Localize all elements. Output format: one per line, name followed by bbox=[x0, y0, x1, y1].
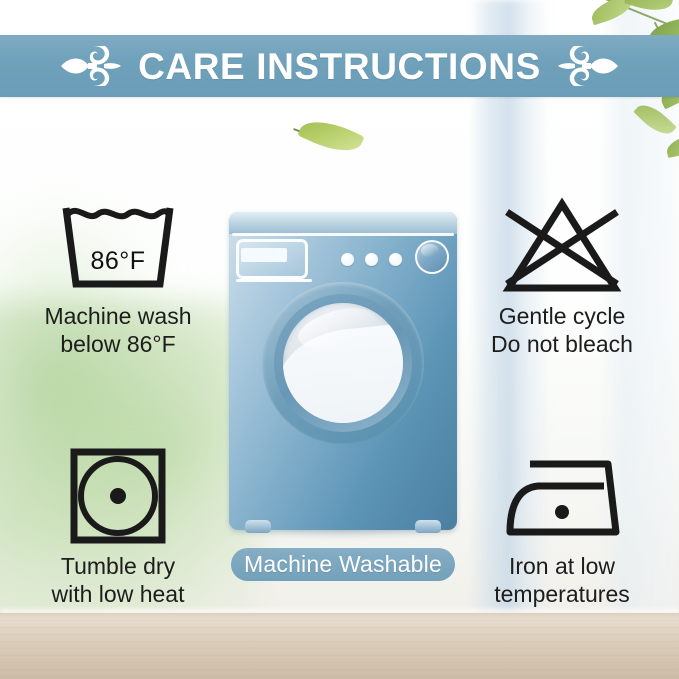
bleach-triangle-crossed-icon bbox=[497, 196, 627, 296]
wash-tub-icon-wrap: 86°F bbox=[8, 190, 228, 302]
washing-machine-illustration bbox=[229, 212, 457, 530]
tumble-dry-icon-wrap bbox=[8, 440, 228, 552]
bleach-icon-wrap bbox=[452, 190, 672, 302]
washer-button-3 bbox=[389, 253, 402, 266]
washer-display-screen bbox=[241, 248, 287, 262]
counter-wood-grain bbox=[0, 613, 679, 679]
washer-door-glass bbox=[283, 303, 403, 423]
iron-icon-wrap bbox=[452, 440, 672, 552]
care-symbol-caption: Iron at low temperatures bbox=[452, 552, 672, 608]
page-title: CARE INSTRUCTIONS bbox=[138, 48, 541, 85]
washer-top-divider bbox=[232, 233, 454, 236]
fleur-de-lis-icon-left bbox=[60, 43, 122, 89]
header-banner: CARE INSTRUCTIONS bbox=[0, 35, 679, 97]
washer-dial-highlight bbox=[421, 244, 439, 257]
wash-tub-icon bbox=[56, 200, 180, 292]
tumble-dry-low-icon bbox=[68, 446, 168, 546]
care-instructions-infographic: CARE INSTRUCTIONS 86°F Machine wash belo… bbox=[0, 0, 679, 679]
washer-panel-divider bbox=[236, 279, 312, 282]
iron-low-heat-icon bbox=[500, 448, 624, 544]
care-symbol-caption: Gentle cycle Do not bleach bbox=[452, 302, 672, 358]
washer-foot-right bbox=[415, 520, 441, 533]
wash-temperature-value: 86°F bbox=[56, 247, 180, 276]
washer-button-1 bbox=[341, 253, 354, 266]
care-symbol-do-not-bleach: Gentle cycle Do not bleach bbox=[452, 190, 672, 358]
care-symbol-caption: Machine wash below 86°F bbox=[8, 302, 228, 358]
washer-button-2 bbox=[365, 253, 378, 266]
care-symbol-tumble-dry: Tumble dry with low heat bbox=[8, 440, 228, 608]
fleur-de-lis-icon-right bbox=[557, 43, 619, 89]
care-symbol-caption: Tumble dry with low heat bbox=[8, 552, 228, 608]
care-symbol-iron: Iron at low temperatures bbox=[452, 440, 672, 608]
machine-washable-badge: Machine Washable bbox=[231, 548, 455, 581]
care-symbol-machine-wash: 86°F Machine wash below 86°F bbox=[8, 190, 228, 358]
washer-top-lid bbox=[229, 212, 457, 234]
washer-foot-left bbox=[245, 520, 271, 533]
machine-washable-badge-label: Machine Washable bbox=[244, 553, 442, 576]
